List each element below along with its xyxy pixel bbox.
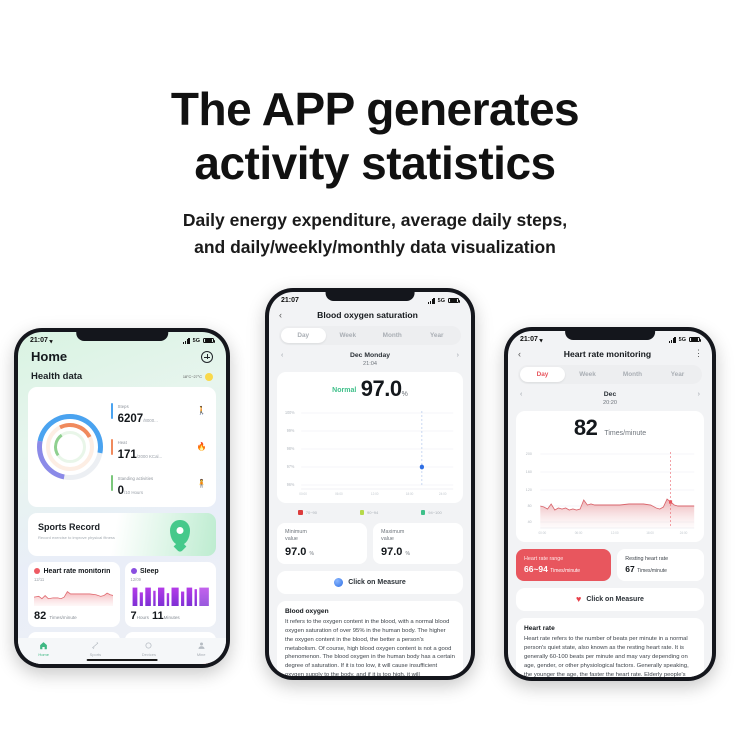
sleep-bars — [131, 586, 211, 608]
page-title: Heart rate monitoring — [527, 349, 688, 359]
metric-goal: /8000... — [143, 418, 158, 423]
headline-block: The APP generates activity statistics Da… — [0, 0, 750, 261]
tab-week[interactable]: Week — [326, 328, 371, 343]
maximum-unit: % — [405, 551, 409, 557]
tab-year[interactable]: Year — [655, 367, 700, 382]
spo2-unit: % — [402, 391, 408, 398]
home-indicator — [87, 659, 158, 662]
date-navigator[interactable]: ‹ Dec Monday › — [269, 345, 471, 361]
blood-oxygen-description: Blood oxygen It refers to the oxygen con… — [277, 601, 463, 676]
card-date: 12/11 — [34, 577, 114, 582]
tab-home[interactable]: Home — [38, 641, 49, 657]
measurement-time: 20:20 — [508, 400, 712, 408]
maximum-label-1: Maximum — [381, 529, 404, 535]
tab-sports[interactable]: Sports — [90, 641, 102, 657]
resting-label: Resting heart rate — [625, 556, 696, 562]
svg-text:98%: 98% — [287, 446, 295, 451]
legend-label: 94~100 — [428, 510, 441, 515]
svg-text:99%: 99% — [287, 428, 295, 433]
range-unit: Times/minute — [550, 568, 580, 574]
metric-label: Standing activities — [118, 476, 154, 481]
standing-icon: 🧍 — [196, 479, 207, 488]
description-body: Heart rate refers to the number of beats… — [524, 635, 696, 677]
location-pin-icon — [170, 520, 190, 545]
svg-text:120: 120 — [526, 488, 532, 492]
tab-label: Sports — [90, 652, 102, 657]
svg-text:80: 80 — [528, 504, 532, 508]
metric-value: 171 — [118, 449, 137, 461]
network-label: 5G — [193, 338, 200, 344]
page-title: Blood oxygen saturation — [288, 310, 447, 320]
svg-text:40: 40 — [528, 520, 532, 524]
prev-date-icon[interactable]: ‹ — [520, 391, 522, 398]
signal-icon — [183, 338, 190, 344]
metric-steps: Steps 6207/8000... 🚶 — [111, 395, 207, 426]
measure-button[interactable]: ♥ Click on Measure — [516, 588, 704, 611]
date-navigator[interactable]: ‹ Dec › — [508, 384, 712, 400]
network-label: 5G — [438, 298, 445, 304]
headline-line-2: activity statistics — [0, 136, 750, 190]
measure-button-label: Click on Measure — [348, 579, 406, 586]
back-icon[interactable]: ‹ — [518, 349, 521, 359]
card-heart-rate[interactable]: Heart rate monitorin 12/11 82 Times/minu… — [28, 562, 120, 627]
card-date: 12/09 — [131, 577, 211, 582]
current-date: Dec Monday — [350, 352, 390, 359]
legend-item: 70~90 — [298, 510, 317, 515]
tab-label: Devices — [142, 652, 156, 657]
sports-icon — [91, 641, 100, 650]
spo2-value: 97.0 — [361, 376, 402, 401]
tab-month[interactable]: Month — [610, 367, 655, 382]
minimum-value: 97.0 — [285, 546, 306, 558]
minimum-label-1: Minimum — [285, 529, 307, 535]
activity-rings — [37, 414, 103, 480]
measurement-time: 21:04 — [269, 361, 471, 369]
headline-line-1: The APP generates — [0, 82, 750, 136]
notch — [565, 331, 655, 340]
phone-right-heart-rate: 21:07 5G ‹ Heart rate monitoring ⋮ Day W… — [504, 327, 716, 681]
tab-week[interactable]: Week — [565, 367, 610, 382]
walking-icon: 🚶 — [196, 406, 207, 415]
next-date-icon[interactable]: › — [698, 391, 700, 398]
subheadline-line-2: and daily/weekly/monthly data visualizat… — [0, 234, 750, 261]
tab-day[interactable]: Day — [281, 328, 326, 343]
heart-rate-unit: Times/minute — [604, 430, 646, 437]
svg-text:160: 160 — [526, 470, 532, 474]
tab-label: Mine — [197, 652, 206, 657]
resting-unit: Times/minute — [637, 568, 667, 574]
legend-swatch — [360, 510, 365, 515]
mine-icon — [197, 641, 206, 650]
svg-text:18:00: 18:00 — [406, 492, 414, 496]
location-icon — [539, 337, 544, 342]
tab-mine[interactable]: Mine — [197, 641, 206, 657]
location-icon — [49, 338, 54, 343]
status-badge: Normal — [332, 387, 356, 394]
svg-text:18:00: 18:00 — [646, 531, 654, 535]
range-value: 66~94 — [524, 564, 548, 574]
spo2-chart-card: Normal 97.0% — [277, 372, 463, 503]
status-time: 21:07 — [30, 337, 48, 344]
more-menu-icon[interactable]: ⋮ — [694, 351, 702, 356]
period-segmented-control[interactable]: Day Week Month Year — [279, 326, 461, 345]
legend-label: 90~94 — [367, 510, 378, 515]
battery-icon — [689, 337, 700, 343]
status-time: 21:07 — [520, 336, 538, 343]
moon-icon — [131, 568, 137, 574]
signal-icon — [669, 337, 676, 343]
heart-rate-chart: 200160 1208040 00:0006:00 12:0018:0024:0… — [524, 444, 696, 536]
heart-rate-description: Heart rate Heart rate refers to the numb… — [516, 618, 704, 677]
period-segmented-control[interactable]: Day Week Month Year — [518, 365, 702, 384]
tab-month[interactable]: Month — [370, 328, 415, 343]
minimum-value-card: Minimumvalue 97.0 % — [277, 523, 367, 564]
phone-left-home: 21:07 5G Home Health data 18°C~27°C — [14, 328, 230, 668]
card-value: 82 — [34, 610, 46, 622]
metric-goal: /10 Hours — [124, 490, 143, 495]
tab-day[interactable]: Day — [520, 367, 565, 382]
measure-button[interactable]: Click on Measure — [277, 571, 463, 594]
svg-text:200: 200 — [526, 452, 532, 456]
heart-rate-sparkline — [34, 586, 114, 608]
svg-text:00:00: 00:00 — [538, 531, 546, 535]
weather-temp: 18°C~27°C — [183, 375, 202, 379]
heart-icon: ♥ — [576, 595, 581, 604]
legend-label: 70~90 — [306, 510, 317, 515]
spo2-chart: 100%99% 98%97%96% 00:0006:00 12:0018:002… — [285, 405, 455, 497]
metric-value: 6207 — [118, 413, 144, 425]
network-label: 5G — [679, 337, 686, 343]
weather-widget: 18°C~27°C — [183, 373, 213, 381]
phone-center-blood-oxygen: 21:07 5G ‹ Blood oxygen saturation Day W… — [265, 288, 475, 680]
svg-text:96%: 96% — [287, 482, 295, 487]
heart-rate-range-card: Heart rate range 66~94 Times/minute — [516, 549, 611, 581]
minimum-unit: % — [309, 551, 313, 557]
svg-text:00:00: 00:00 — [299, 492, 307, 496]
current-date: Dec — [604, 391, 616, 398]
prev-date-icon[interactable]: ‹ — [281, 352, 283, 359]
tab-label: Home — [38, 652, 49, 657]
metric-heat: Heat 171/2000 KCal... 🔥 — [111, 431, 207, 462]
card-unit: Times/minute — [49, 615, 76, 620]
svg-text:24:00: 24:00 — [439, 492, 447, 496]
legend-swatch — [421, 510, 426, 515]
svg-text:24:00: 24:00 — [680, 531, 688, 535]
svg-text:100%: 100% — [285, 410, 295, 415]
notch — [326, 292, 415, 301]
metric-label: Heat — [118, 440, 127, 445]
signal-icon — [428, 298, 435, 304]
health-data-heading: Health data — [31, 371, 82, 382]
tab-year[interactable]: Year — [415, 328, 460, 343]
heart-rate-chart-card: 82 Times/minute — [516, 411, 704, 542]
sports-record-card[interactable]: Sports Record Record exercise to improve… — [28, 513, 216, 556]
legend-item: 90~94 — [360, 510, 379, 515]
spo2-legend: 70~90 90~94 94~100 — [269, 503, 471, 517]
description-title: Heart rate — [524, 625, 696, 632]
svg-text:06:00: 06:00 — [335, 492, 343, 496]
heart-rate-value: 82 — [574, 415, 597, 441]
next-date-icon[interactable]: › — [457, 352, 459, 359]
flame-icon: 🔥 — [196, 442, 207, 451]
range-label: Heart rate range — [524, 556, 603, 562]
metric-label: Steps — [118, 404, 129, 409]
health-rings-card[interactable]: Steps 6207/8000... 🚶 Heat 171/2000 KCal.… — [28, 387, 216, 507]
maximum-label-2: value — [381, 536, 394, 542]
back-icon[interactable]: ‹ — [279, 310, 282, 320]
svg-text:06:00: 06:00 — [575, 531, 583, 535]
maximum-value-card: Maximumvalue 97.0 % — [373, 523, 463, 564]
devices-icon — [144, 641, 153, 650]
battery-icon — [448, 298, 459, 304]
card-title: Sleep — [140, 568, 159, 575]
legend-item: 94~100 — [421, 510, 442, 515]
svg-text:12:00: 12:00 — [371, 492, 379, 496]
maximum-value: 97.0 — [381, 546, 402, 558]
card-sleep[interactable]: Sleep 12/09 — [125, 562, 217, 627]
minimum-label-2: value — [285, 536, 298, 542]
phone-mockups: 21:07 5G Home Health data 18°C~27°C — [0, 280, 750, 700]
svg-text:97%: 97% — [287, 464, 295, 469]
home-icon — [39, 641, 48, 650]
sun-icon — [205, 373, 213, 381]
sleep-hours-unit: Hours — [137, 615, 149, 620]
description-title: Blood oxygen — [285, 608, 455, 615]
subheadline-line-1: Daily energy expenditure, average daily … — [0, 207, 750, 234]
add-icon[interactable] — [201, 351, 213, 363]
sleep-minutes-unit: Minutes — [164, 615, 180, 620]
card-title: Heart rate monitorin — [44, 568, 111, 575]
heart-icon — [34, 568, 40, 574]
metric-goal: /2000 KCal... — [137, 454, 162, 459]
resting-value: 67 — [625, 564, 634, 574]
sleep-minutes: 11 — [152, 610, 164, 622]
description-body: It refers to the oxygen content in the b… — [285, 618, 455, 676]
spo2-icon — [334, 578, 343, 587]
status-time: 21:07 — [281, 297, 299, 304]
measure-button-label: Click on Measure — [586, 596, 644, 603]
notch — [76, 332, 168, 341]
metric-standing: Standing activities 0/10 Hours 🧍 — [111, 467, 207, 498]
tab-devices[interactable]: Devices — [142, 641, 156, 657]
legend-swatch — [298, 510, 303, 515]
resting-heart-rate-card: Resting heart rate 67 Times/minute — [617, 549, 704, 581]
svg-text:12:00: 12:00 — [611, 531, 619, 535]
page-title: Home — [31, 349, 67, 364]
battery-icon — [203, 338, 214, 344]
